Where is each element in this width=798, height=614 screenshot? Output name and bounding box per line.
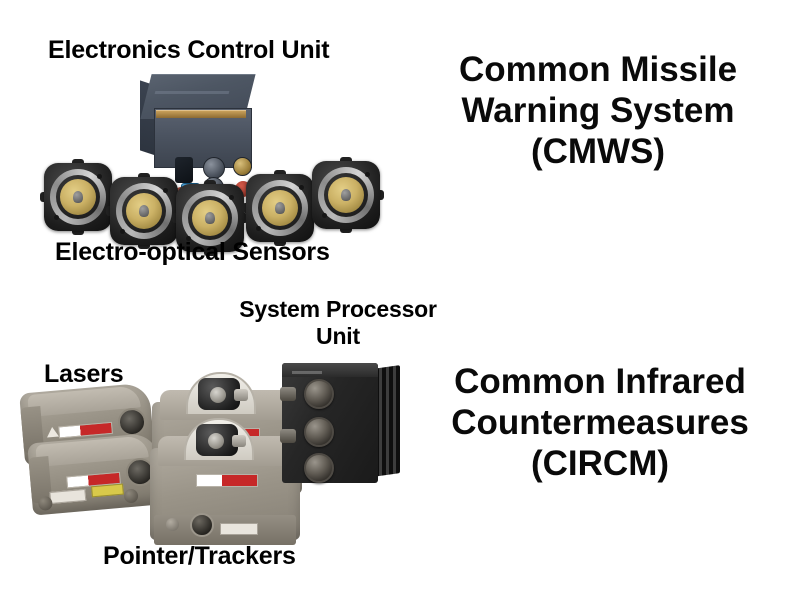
ecu-connector-round-1 [203, 157, 225, 179]
title-circm-line-3: (CIRCM) [404, 444, 796, 485]
tracker-turret-head [196, 424, 238, 456]
title-cmws: Common Missile Warning System (CMWS) [408, 50, 788, 173]
sensor-screw [299, 185, 304, 190]
tracker-data-plate [220, 523, 258, 535]
sensor-center-nub [73, 191, 83, 203]
tracker-port [190, 513, 214, 537]
sensor-center-nub [205, 212, 215, 224]
spu-connector-3 [304, 453, 334, 483]
electro-optical-sensor [312, 161, 380, 229]
label-spu-line-2: Unit [218, 323, 458, 350]
title-circm-line-2: Countermeasures [404, 403, 796, 444]
sensor-center-nub [275, 202, 285, 214]
diagram-canvas: Electronics Control Unit [0, 0, 798, 614]
title-cmws-line-2: Warning System [408, 91, 788, 132]
tracker-connector [166, 518, 179, 531]
title-circm-line-1: Common Infrared [404, 362, 796, 403]
laser-unit [27, 432, 163, 515]
spu-nameplate [292, 371, 322, 374]
electro-optical-sensor [110, 177, 178, 245]
electronics-control-unit-image [140, 74, 260, 172]
tracker-optical-window [210, 387, 226, 403]
label-system-processor-unit: System Processor Unit [218, 296, 458, 350]
system-processor-unit-image [282, 363, 406, 485]
spu-side-connector-2 [280, 429, 296, 443]
tracker-gimbal-pin [232, 435, 246, 447]
spu-connector-1 [304, 379, 334, 409]
spu-top-face [282, 363, 378, 377]
title-cmws-line-3: (CMWS) [408, 132, 788, 173]
spu-side-connector-1 [280, 387, 296, 401]
sensor-screw [322, 213, 327, 218]
sensor-screw [365, 172, 370, 177]
pointer-tracker-unit [150, 418, 300, 543]
laser-hazard-triangle-icon [46, 427, 59, 438]
label-electronics-control-unit: Electronics Control Unit [48, 36, 329, 65]
sensor-screw [163, 188, 168, 193]
tracker-warning-label [196, 474, 258, 487]
label-spu-line-1: System Processor [218, 296, 458, 323]
tracker-gimbal-pin [234, 389, 248, 401]
sensor-center-nub [139, 205, 149, 217]
sensor-screw [97, 174, 102, 179]
title-cmws-line-1: Common Missile [408, 50, 788, 91]
tracker-optical-window [208, 433, 224, 449]
electro-optical-sensor [246, 174, 314, 242]
title-circm: Common Infrared Countermeasures (CIRCM) [404, 362, 796, 485]
spu-connector-2 [304, 417, 334, 447]
label-electro-optical-sensors: Electro-optical Sensors [55, 238, 330, 267]
electro-optical-sensor [44, 163, 112, 231]
ecu-gold-rail [156, 110, 246, 118]
sensor-screw [120, 229, 125, 234]
sensor-screw [256, 226, 261, 231]
tracker-turret-head [198, 378, 240, 410]
label-pointer-trackers: Pointer/Trackers [103, 542, 296, 571]
sensor-screw [229, 195, 234, 200]
sensor-center-nub [341, 189, 351, 201]
sensor-screw [54, 215, 59, 220]
